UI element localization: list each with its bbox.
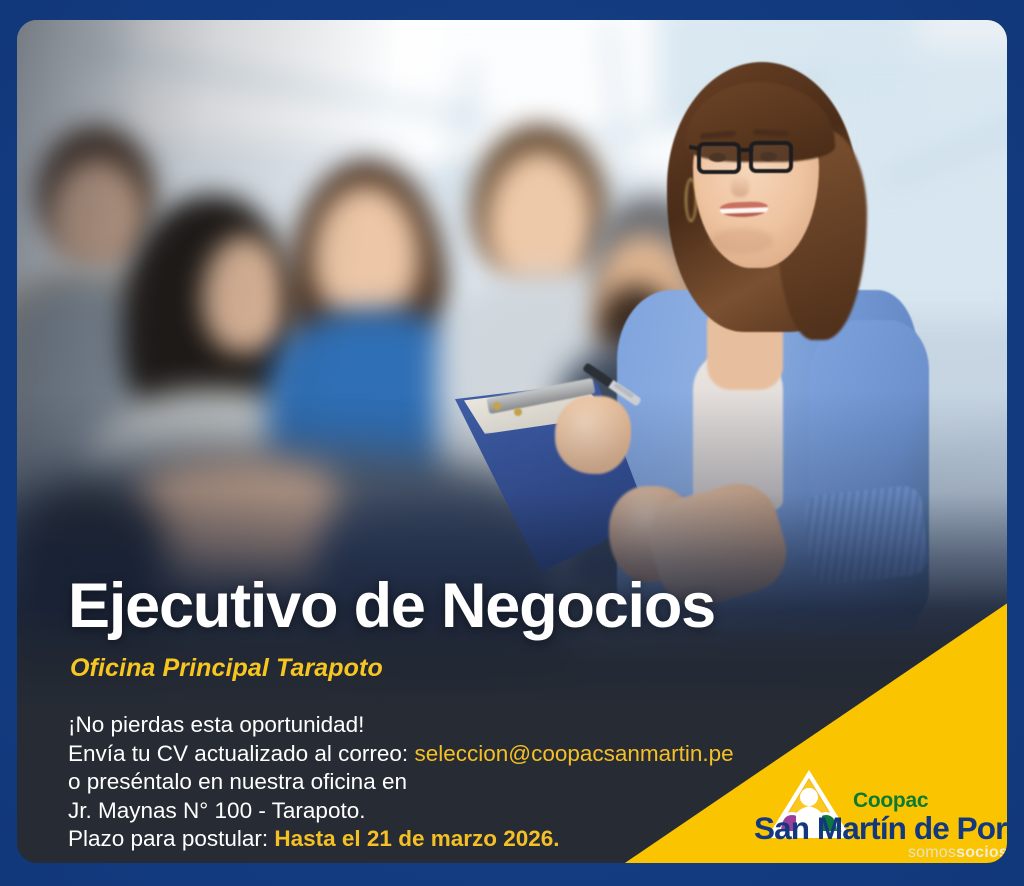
logo-tagline: somossocios (908, 844, 1007, 862)
poster-card: Ejecutivo de Negocios Oficina Principal … (17, 20, 1007, 863)
body-line-5-prefix: Plazo para postular: (68, 826, 274, 851)
contact-email[interactable]: seleccion@coopacsanmartin.pe (414, 741, 733, 766)
body-line-3: o preséntalo en nuestra oficina en (68, 768, 734, 797)
body-line-4-address: Jr. Maynas N° 100 - Tarapoto. (68, 797, 734, 826)
body-line-2: Envía tu CV actualizado al correo: selec… (68, 740, 734, 769)
job-location-subheadline: Oficina Principal Tarapoto (70, 654, 383, 683)
body-line-2-prefix: Envía tu CV actualizado al correo: (68, 741, 414, 766)
coopac-logo: Coopac San Martín de Porres somossocios (752, 768, 1007, 863)
job-details-block: ¡No pierdas esta oportunidad! Envía tu C… (68, 711, 734, 854)
body-line-1: ¡No pierdas esta oportunidad! (68, 711, 734, 740)
job-title-headline: Ejecutivo de Negocios (68, 575, 715, 638)
logo-name-word: San Martín de Porres (754, 810, 1007, 847)
logo-tagline-light: somos (908, 844, 956, 861)
poster-root: Ejecutivo de Negocios Oficina Principal … (0, 0, 1024, 886)
body-line-5: Plazo para postular: Hasta el 21 de marz… (68, 825, 734, 854)
logo-tagline-bold: socios (956, 844, 1007, 861)
application-deadline: Hasta el 21 de marzo 2026. (274, 826, 559, 851)
